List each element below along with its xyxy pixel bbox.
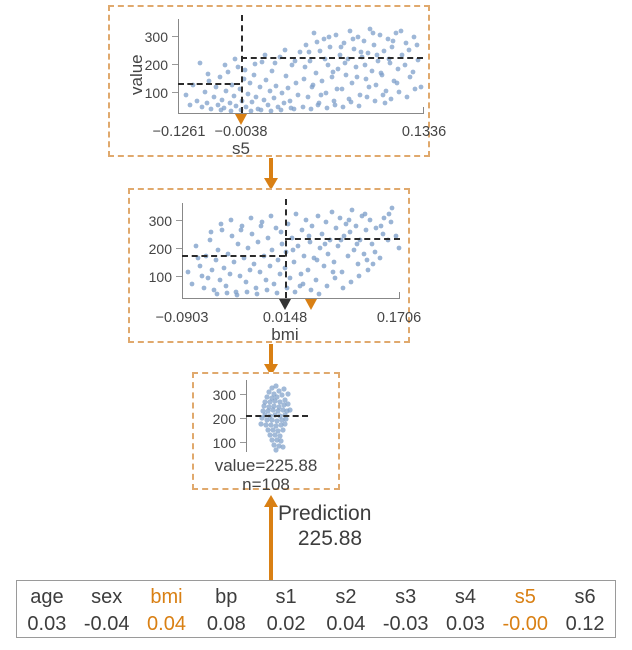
node-panel-leaf[interactable]: 300 200 100 value=2 [192, 372, 340, 490]
right-mean-line [241, 57, 423, 59]
table-row-feature-names: age sex bmi bp s1 s2 s3 s4 s5 s6 [17, 581, 615, 610]
feature-name-bmi: bmi [137, 581, 197, 610]
feature-value-sex: -0.04 [77, 610, 137, 637]
node-panel-s5[interactable]: value 300 200 100 [108, 5, 430, 157]
prediction-annotation: Prediction 225.88 [278, 502, 478, 552]
prediction-value: 225.88 [278, 527, 382, 552]
x-tick-label: 0.1336 [391, 125, 457, 140]
x-axis-tick [182, 292, 183, 298]
feature-value-table[interactable]: age sex bmi bp s1 s2 s3 s4 s5 s6 0.03 -0… [16, 580, 616, 638]
x-tick-label: −0.0903 [149, 311, 215, 326]
split-line-s5 [241, 15, 243, 113]
feature-value-s1: 0.02 [256, 610, 316, 637]
y-tick-label: 200 [200, 412, 236, 426]
y-tick-label: 200 [132, 58, 168, 72]
y-tick-label: 300 [132, 30, 168, 44]
feature-name-s3: s3 [376, 581, 436, 610]
feature-name-s6: s6 [555, 581, 615, 610]
prediction-title: Prediction [278, 502, 371, 525]
x-tick-label: 0.0148 [252, 311, 318, 326]
feature-name-s5: s5 [495, 581, 555, 610]
feature-value-s2: 0.04 [316, 610, 376, 637]
x-axis-spine [178, 113, 424, 114]
leaf-value-label: value=225.88 [194, 456, 338, 476]
feature-table-grid: age sex bmi bp s1 s2 s3 s4 s5 s6 0.03 -0… [17, 581, 615, 637]
leaf-n-label: n=108 [194, 475, 338, 495]
scatter-points-s5 [178, 17, 423, 113]
leaf-mean-line [246, 415, 308, 417]
y-tick-label: 100 [136, 270, 172, 284]
y-tick-label: 300 [136, 214, 172, 228]
edge-s5-to-bmi [269, 158, 273, 190]
y-tick-label: 100 [132, 86, 168, 100]
x-axis-tick [423, 107, 424, 113]
feature-value-s6: 0.12 [555, 610, 615, 637]
x-axis-tick [399, 292, 400, 298]
scatter-points-leaf [250, 380, 306, 454]
y-tick-label: 200 [136, 242, 172, 256]
left-mean-line [182, 255, 285, 257]
scatter-points-bmi [182, 200, 400, 298]
x-tick-label: 0.1706 [366, 311, 432, 326]
x-axis-spine [182, 298, 400, 299]
feature-value-s4: 0.03 [436, 610, 496, 637]
feature-value-bp: 0.08 [196, 610, 256, 637]
feature-name-bp: bp [196, 581, 256, 610]
y-tick-label: 100 [200, 436, 236, 450]
feature-name-age: age [17, 581, 77, 610]
node-panel-bmi[interactable]: 300 200 100 [128, 188, 410, 343]
table-row-feature-values: 0.03 -0.04 0.04 0.08 0.02 0.04 -0.03 0.0… [17, 610, 615, 637]
instance-marker-bmi [305, 299, 317, 310]
feature-name-s1: s1 [256, 581, 316, 610]
feature-value-age: 0.03 [17, 610, 77, 637]
split-line-bmi [285, 199, 287, 298]
split-marker-bmi [279, 299, 291, 310]
feature-name-s2: s2 [316, 581, 376, 610]
edge-table-to-leaf [269, 495, 273, 581]
right-mean-line [285, 238, 400, 240]
left-mean-line [178, 83, 240, 85]
x-tick-label: −0.0038 [208, 125, 274, 140]
x-axis-title-s5: s5 [208, 140, 274, 157]
feature-name-sex: sex [77, 581, 137, 610]
feature-name-s4: s4 [436, 581, 496, 610]
y-tick-label: 300 [200, 388, 236, 402]
x-axis-title-bmi: bmi [252, 326, 318, 343]
feature-value-bmi: 0.04 [137, 610, 197, 637]
x-tick-label: −0.1261 [146, 125, 212, 140]
x-axis-tick [178, 107, 179, 113]
feature-value-s5: -0.00 [495, 610, 555, 637]
feature-value-s3: -0.03 [376, 610, 436, 637]
